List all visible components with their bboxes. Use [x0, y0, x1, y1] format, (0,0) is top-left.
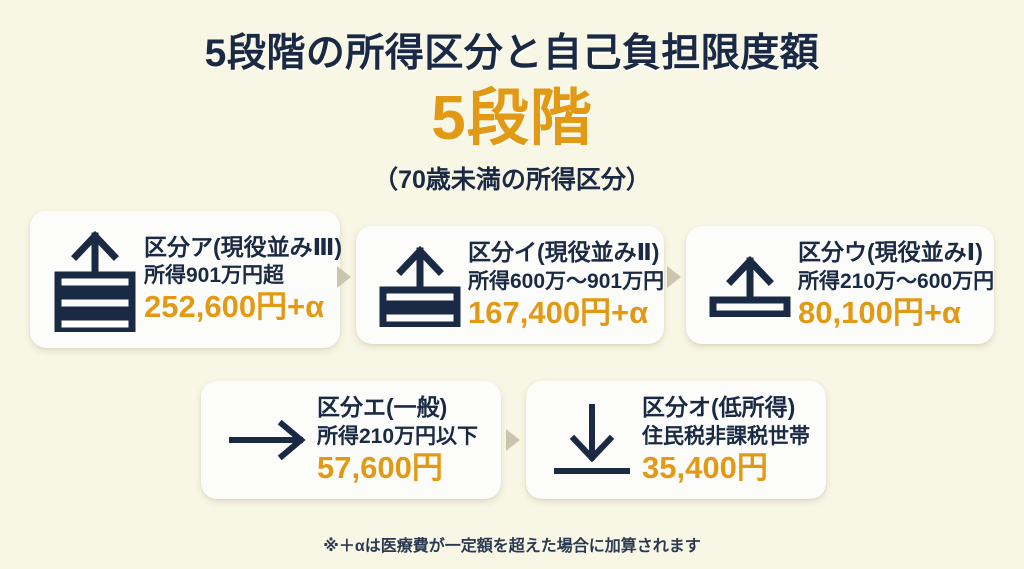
bracket-title: 区分イ(現役並みⅡ): [468, 239, 664, 265]
arrow-right-icon: [217, 418, 317, 462]
page-title: 5段階の所得区分と自己負担限度額: [0, 22, 1024, 78]
infographic-canvas: 5段階の所得区分と自己負担限度額 5段階 （70歳未満の所得区分） 区分ア(現役…: [0, 0, 1024, 569]
bracket-title: 区分ウ(現役並みⅠ): [798, 239, 994, 265]
headline-subnote: （70歳未満の所得区分）: [0, 160, 1024, 196]
card-text-block: 区分イ(現役並みⅡ) 所得600万〜901万円 167,400円+α: [468, 239, 664, 330]
arrow-up-three-bars-icon: [46, 228, 144, 332]
bracket-amount: 80,100円+α: [798, 296, 994, 331]
bracket-amount: 57,600円: [317, 451, 489, 486]
bracket-title: 区分オ(低所得): [642, 394, 814, 420]
arrow-up-two-bars-icon: [372, 243, 468, 327]
triangle-right-icon: [667, 266, 681, 288]
arrow-down-line-icon: [542, 401, 642, 479]
arrow-up-one-bar-icon: [702, 253, 798, 317]
bracket-amount: 167,400円+α: [468, 296, 664, 331]
bracket-amount: 35,400円: [642, 451, 814, 486]
bracket-amount: 252,600円+α: [144, 290, 342, 325]
income-bracket-card: 区分エ(一般) 所得210万円以下 57,600円: [201, 381, 501, 499]
headline-number: 5段階: [0, 88, 1024, 150]
income-bracket-card: 区分オ(低所得) 住民税非課税世帯 35,400円: [526, 381, 826, 499]
income-bracket-card: 区分ア(現役並みⅢ) 所得901万円超 252,600円+α: [30, 211, 340, 348]
triangle-right-icon: [506, 429, 520, 451]
bracket-title: 区分エ(一般): [317, 394, 489, 420]
card-text-block: 区分ウ(現役並みⅠ) 所得210万〜600万円 80,100円+α: [798, 239, 994, 330]
bracket-income-range: 所得210万〜600万円: [798, 269, 994, 294]
bracket-income-range: 所得210万円以下: [317, 424, 489, 449]
card-text-block: 区分エ(一般) 所得210万円以下 57,600円: [317, 394, 489, 485]
card-text-block: 区分ア(現役並みⅢ) 所得901万円超 252,600円+α: [144, 234, 342, 325]
footnote: ※＋αは医療費が一定額を超えた場合に加算されます: [0, 532, 1024, 556]
bracket-income-range: 住民税非課税世帯: [642, 424, 814, 449]
bracket-title: 区分ア(現役並みⅢ): [144, 234, 342, 260]
bracket-income-range: 所得901万円超: [144, 263, 342, 288]
card-text-block: 区分オ(低所得) 住民税非課税世帯 35,400円: [642, 394, 814, 485]
bracket-income-range: 所得600万〜901万円: [468, 269, 664, 294]
triangle-right-icon: [337, 266, 351, 288]
income-bracket-card: 区分ウ(現役並みⅠ) 所得210万〜600万円 80,100円+α: [686, 226, 994, 344]
income-bracket-card: 区分イ(現役並みⅡ) 所得600万〜901万円 167,400円+α: [356, 226, 664, 344]
